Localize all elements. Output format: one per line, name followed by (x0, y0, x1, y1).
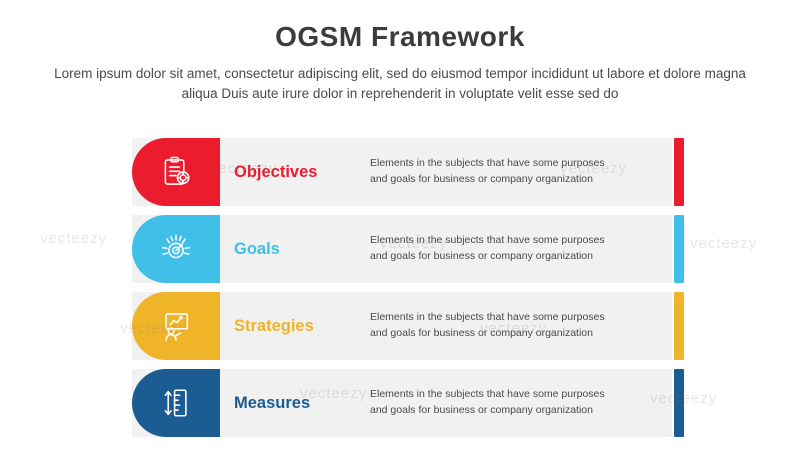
row-description-line-1: Elements in the subjects that have some … (370, 310, 654, 326)
row-label-cell: Measures (220, 369, 370, 437)
row-description-line-1: Elements in the subjects that have some … (370, 156, 654, 172)
row-description-line-2: and goals for business or company organi… (370, 326, 654, 342)
row-icon-cap (132, 215, 220, 283)
row-accent-bar (674, 292, 684, 360)
framework-row-strategies[interactable]: Strategies Elements in the subjects that… (132, 292, 672, 360)
row-description-cell: Elements in the subjects that have some … (370, 138, 672, 206)
row-accent-bar (674, 215, 684, 283)
row-description-line-2: and goals for business or company organi… (370, 172, 654, 188)
row-accent-bar (674, 369, 684, 437)
clipboard-target-icon (159, 155, 193, 189)
infographic-page: OGSM Framework Lorem ipsum dolor sit ame… (0, 20, 800, 470)
row-label-cell: Goals (220, 215, 370, 283)
ruler-arrows-icon (159, 386, 193, 420)
row-description-cell: Elements in the subjects that have some … (370, 292, 672, 360)
row-description-cell: Elements in the subjects that have some … (370, 369, 672, 437)
row-icon-cap (132, 138, 220, 206)
row-label: Measures (234, 394, 310, 413)
framework-rows: Objectives Elements in the subjects that… (132, 138, 672, 446)
target-burst-icon (159, 232, 193, 266)
watermark-text: vecteezy (690, 235, 757, 252)
row-description-line-1: Elements in the subjects that have some … (370, 387, 654, 403)
row-accent-bar (674, 138, 684, 206)
watermark-text: vecteezy (40, 230, 107, 247)
row-description-cell: Elements in the subjects that have some … (370, 215, 672, 283)
row-description-line-1: Elements in the subjects that have some … (370, 233, 654, 249)
row-icon-cap (132, 369, 220, 437)
page-title: OGSM Framework (0, 20, 800, 54)
row-label: Goals (234, 240, 280, 259)
page-subtitle: Lorem ipsum dolor sit amet, consectetur … (40, 64, 760, 105)
framework-row-objectives[interactable]: Objectives Elements in the subjects that… (132, 138, 672, 206)
presentation-person-icon (159, 309, 193, 343)
row-description-line-2: and goals for business or company organi… (370, 403, 654, 419)
row-icon-cap (132, 292, 220, 360)
row-label-cell: Objectives (220, 138, 370, 206)
row-label-cell: Strategies (220, 292, 370, 360)
framework-row-measures[interactable]: Measures Elements in the subjects that h… (132, 369, 672, 437)
framework-row-goals[interactable]: Goals Elements in the subjects that have… (132, 215, 672, 283)
row-label: Strategies (234, 317, 314, 336)
row-label: Objectives (234, 163, 317, 182)
row-description-line-2: and goals for business or company organi… (370, 249, 654, 265)
